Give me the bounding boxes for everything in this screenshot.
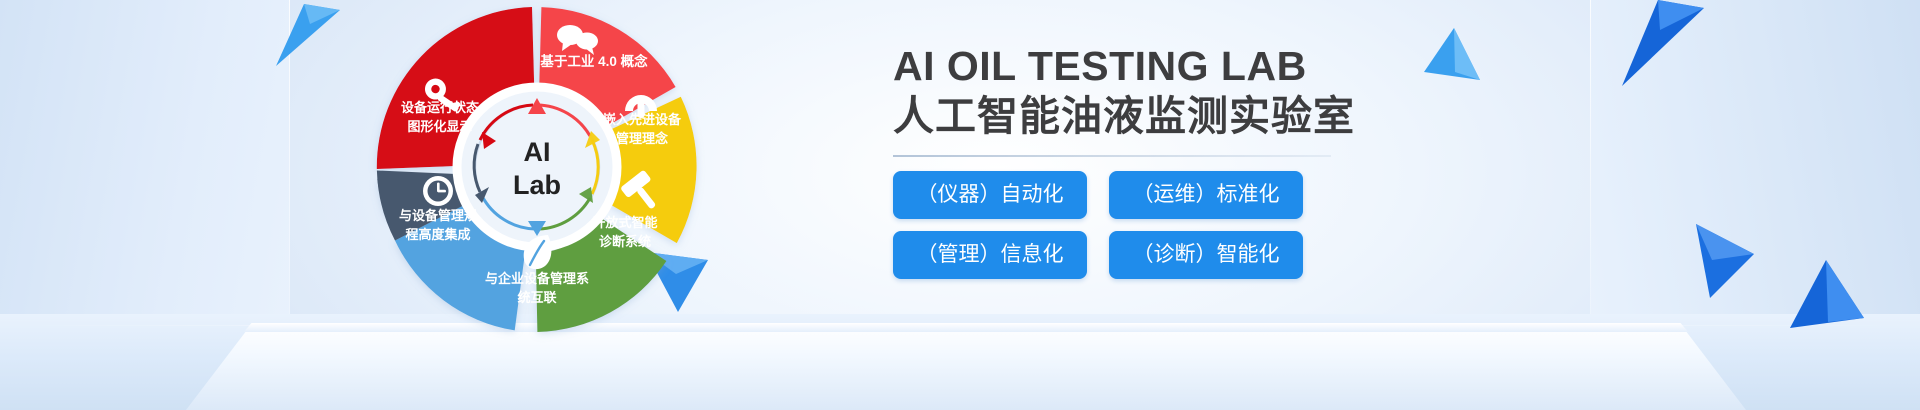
badge-management-informatization[interactable]: （管理）信息化	[893, 231, 1087, 279]
segment-label-advanced-equipment-line2: 管理理念	[616, 131, 668, 146]
feature-badge-list: （仪器）自动化 （运维）标准化 （管理）信息化 （诊断）智能化	[893, 171, 1533, 279]
clock-icon	[423, 176, 453, 206]
badge-diagnosis-intelligence[interactable]: （诊断）智能化	[1109, 231, 1303, 279]
wheel-center-line1: AI	[524, 137, 551, 167]
segment-label-industry-4-0: 基于工业 4.0 概念	[540, 53, 648, 69]
triangle-bottom-right-icon	[1790, 260, 1864, 332]
badge-operations-standardization[interactable]: （运维）标准化	[1109, 171, 1303, 219]
ai-lab-wheel-diagram: AI Lab	[372, 2, 702, 332]
wheel-center-line2: Lab	[513, 170, 561, 200]
segment-label-open-diagnosis-line1: 开放式智能	[592, 215, 657, 230]
segment-label-enterprise-interconnect-line1: 与企业设备管理系	[485, 271, 589, 286]
ai-oil-testing-lab-banner: AI Lab	[0, 0, 1920, 410]
podium-platform	[186, 324, 1746, 410]
segment-label-enterprise-interconnect-line2: 统互联	[517, 290, 556, 305]
banner-content: AI OIL TESTING LAB 人工智能油液监测实验室 （仪器）自动化 （…	[893, 44, 1533, 279]
segment-label-advanced-equipment-line1: 嵌入先进设备	[603, 112, 682, 127]
title-chinese: 人工智能油液监测实验室	[893, 92, 1533, 141]
badge-instrument-automation[interactable]: （仪器）自动化	[893, 171, 1087, 219]
triangle-mid-right-icon	[1676, 224, 1754, 298]
segment-label-management-integration-line2: 程高度集成	[405, 227, 470, 242]
triangle-top-left-icon	[274, 4, 340, 66]
segment-label-management-integration-line1: 与设备管理规	[399, 208, 477, 223]
title-divider	[893, 155, 1331, 157]
segment-label-open-diagnosis-line2: 诊断系统	[599, 234, 651, 249]
title-english: AI OIL TESTING LAB	[893, 44, 1533, 90]
triangle-top-right-large-icon	[1616, 0, 1704, 86]
segment-label-status-visualization-line2: 图形化显示	[407, 119, 472, 134]
segment-label-status-visualization-line1: 设备运行状态	[401, 100, 479, 115]
